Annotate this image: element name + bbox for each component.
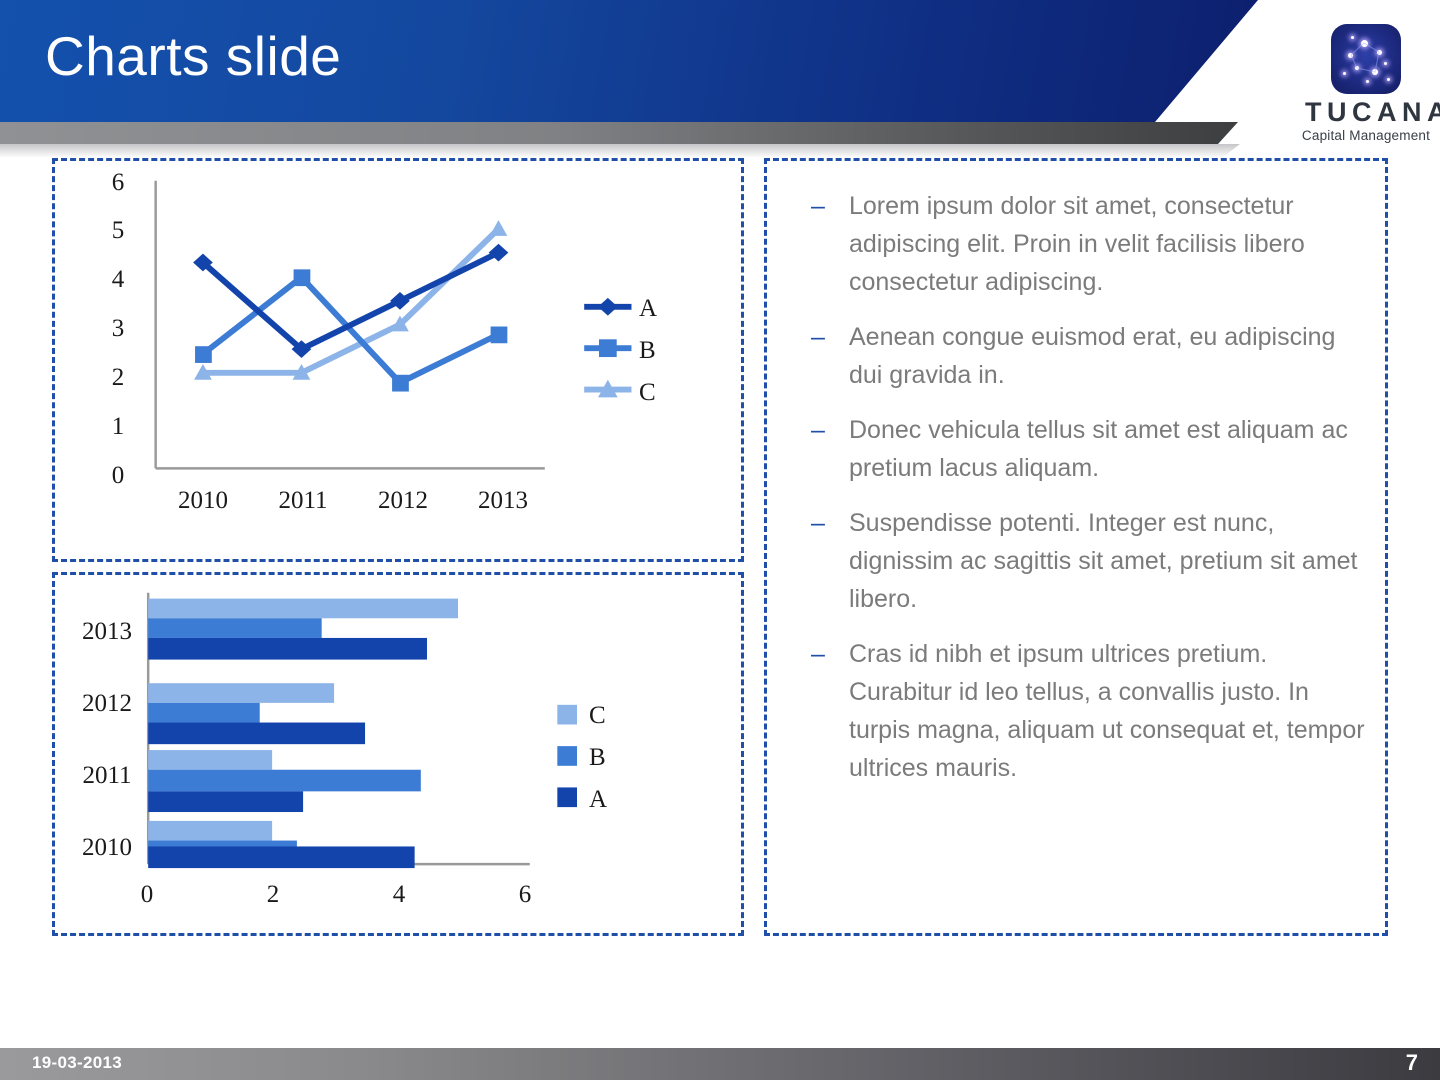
bar-group-2013 [148, 599, 458, 660]
bar-chart-panel[interactable]: 2013 2012 2011 2010 0 2 4 6 C B A [52, 572, 744, 936]
bullet-text: Donec vehicula tellus sit amet est aliqu… [849, 411, 1367, 487]
legend-label-a: A [639, 295, 657, 323]
legend-b-marker [599, 339, 617, 357]
list-item: – Suspendisse potenti. Integer est nunc,… [811, 504, 1367, 618]
bar-x-tick-2: 2 [255, 881, 291, 909]
legend-label-b: B [639, 337, 656, 365]
bar-2011-b [148, 770, 421, 792]
bar-legend-b-swatch [557, 746, 577, 766]
content-text-panel[interactable]: – Lorem ipsum dolor sit amet, consectetu… [764, 158, 1388, 936]
list-item: – Donec vehicula tellus sit amet est ali… [811, 411, 1367, 487]
bar-legend-label-b: B [589, 744, 606, 772]
bar-group-2010 [148, 821, 414, 868]
bar-cat-2012: 2012 [71, 690, 143, 718]
header-shadow [0, 144, 1260, 158]
bar-2011-c [148, 750, 272, 770]
constellation-logo-icon [1331, 24, 1401, 94]
bar-x-tick-4: 4 [381, 881, 417, 909]
bar-legend-label-a: A [589, 786, 607, 814]
series-b-line [203, 277, 499, 382]
bar-2011-a [148, 791, 303, 812]
bar-2012-c [148, 683, 334, 703]
bar-x-tick-0: 0 [129, 881, 165, 909]
bar-x-tick-6: 6 [507, 881, 543, 909]
bullet-dash-icon: – [811, 635, 849, 787]
bullet-text: Lorem ipsum dolor sit amet, consectetur … [849, 187, 1367, 301]
line-legend [584, 298, 631, 398]
legend-label-c: C [639, 379, 656, 407]
logo-tagline: Capital Management [1300, 128, 1432, 143]
line-chart-panel[interactable]: 6 5 4 3 2 1 0 2010 2011 2012 2013 A B C [52, 158, 744, 562]
bar-cat-2011: 2011 [71, 762, 143, 790]
bullet-text: Aenean congue euismod erat, eu adipiscin… [849, 318, 1367, 394]
bar-2012-b [148, 703, 260, 723]
series-a-line [203, 253, 499, 350]
list-item: – Lorem ipsum dolor sit amet, consectetu… [811, 187, 1367, 301]
bar-cat-2010: 2010 [71, 834, 143, 862]
x-tick-2010: 2010 [161, 487, 245, 515]
series-a-markers [193, 244, 508, 358]
x-tick-2011: 2011 [261, 487, 345, 515]
bullet-text: Suspendisse potenti. Integer est nunc, d… [849, 504, 1367, 618]
bullet-dash-icon: – [811, 504, 849, 618]
x-tick-2012: 2012 [361, 487, 445, 515]
page-title: Charts slide [45, 26, 341, 87]
y-tick-1: 1 [103, 413, 133, 441]
bar-group-2012 [148, 683, 365, 744]
bar-legend-a-swatch [557, 787, 577, 807]
y-tick-6: 6 [103, 169, 133, 197]
legend-a-marker [598, 298, 618, 316]
list-item: – Cras id nibh et ipsum ultrices pretium… [811, 635, 1367, 787]
footer-page-number: 7 [1406, 1050, 1418, 1076]
y-tick-4: 4 [103, 266, 133, 294]
y-tick-5: 5 [103, 217, 133, 245]
bar-legend-c-swatch [557, 705, 577, 725]
bar-2010-a [148, 846, 414, 868]
bar-cat-2013: 2013 [71, 618, 143, 646]
bullet-text: Cras id nibh et ipsum ultrices pretium. … [849, 635, 1367, 787]
bar-2012-a [148, 723, 365, 745]
list-item: – Aenean congue euismod erat, eu adipisc… [811, 318, 1367, 394]
bullet-dash-icon: – [811, 187, 849, 301]
y-tick-0: 0 [103, 462, 133, 490]
bar-legend [557, 705, 577, 807]
bullet-dash-icon: – [811, 318, 849, 394]
bar-2013-b [148, 618, 321, 638]
slide-header: Charts slide TUCANA Capital Management [0, 0, 1440, 152]
logo-wordmark: TUCANA [1300, 99, 1432, 126]
header-gray-band [0, 122, 1238, 144]
bar-group-2011 [148, 750, 421, 812]
bullet-list: – Lorem ipsum dolor sit amet, consectetu… [811, 187, 1367, 804]
bar-2013-c [148, 599, 458, 619]
footer-date: 19-03-2013 [32, 1053, 122, 1073]
bullet-dash-icon: – [811, 411, 849, 487]
y-tick-3: 3 [103, 315, 133, 343]
bar-2013-a [148, 638, 427, 660]
bar-chart [55, 575, 741, 933]
brand-logo: TUCANA Capital Management [1300, 24, 1432, 143]
slide-footer [0, 1048, 1440, 1080]
y-tick-2: 2 [103, 364, 133, 392]
bar-legend-label-c: C [589, 702, 606, 730]
x-tick-2013: 2013 [461, 487, 545, 515]
bar-2010-c [148, 821, 272, 841]
